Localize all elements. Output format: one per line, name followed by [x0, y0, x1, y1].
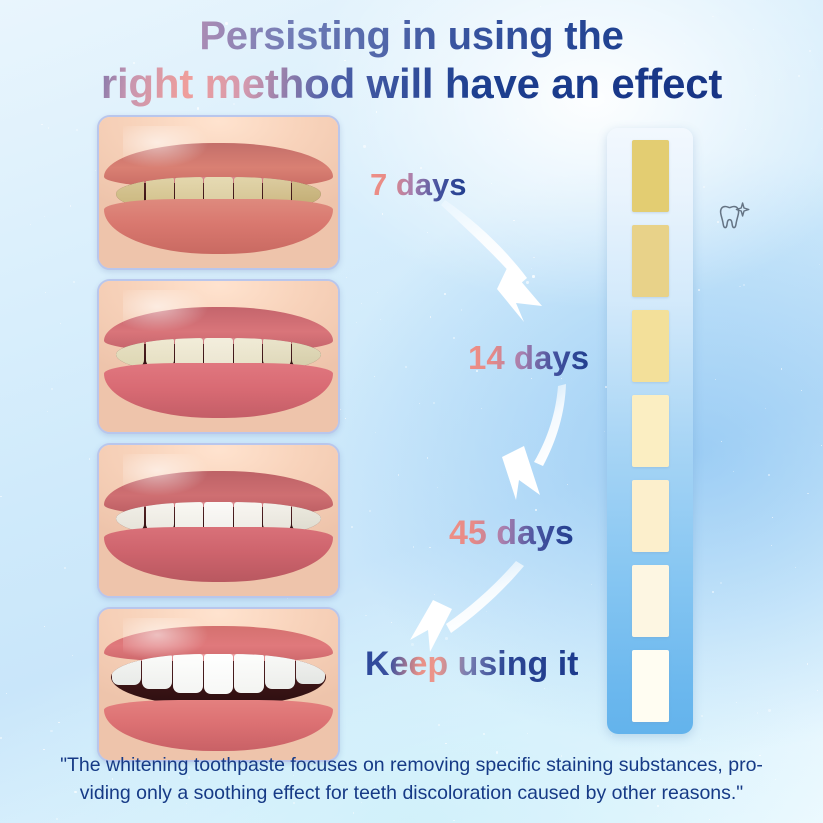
- mouth-illustration: [99, 445, 338, 596]
- mouth-cavity: [111, 654, 326, 705]
- shade-swatch-2: [632, 225, 669, 297]
- tooth: [234, 654, 264, 693]
- infographic-stage: Persisting in using the right method wil…: [0, 0, 823, 823]
- photo-week-two-teeth: [97, 279, 340, 434]
- teeth-row: [111, 654, 326, 705]
- tooth: [173, 654, 203, 693]
- arrow-45-to-keep: [410, 561, 524, 652]
- tooth: [142, 654, 172, 689]
- shade-swatch-4: [632, 395, 669, 467]
- tooth: [292, 502, 320, 530]
- tooth: [265, 654, 295, 689]
- shade-swatch-1: [632, 140, 669, 212]
- photo-final-bright-teeth: [97, 607, 340, 762]
- stage-label-14-days: 14 days: [468, 339, 589, 377]
- tooth: [296, 654, 326, 684]
- mouth-illustration: [99, 281, 338, 432]
- title-line-1: Persisting in using the: [0, 14, 823, 60]
- arrow-7-to-14: [441, 200, 542, 322]
- tooth-shade-guide: [607, 128, 693, 734]
- shade-swatch-5: [632, 480, 669, 552]
- stage-label-45-days: 45 days: [449, 514, 574, 553]
- tooth-sparkle-icon: [717, 200, 751, 232]
- shade-swatch-6: [632, 565, 669, 637]
- page-title: Persisting in using the right method wil…: [0, 14, 823, 107]
- caption-line-2: viding only a soothing effect for teeth …: [24, 780, 799, 808]
- progress-photo-column: [97, 115, 340, 762]
- mouth-illustration: [99, 609, 338, 760]
- tooth: [292, 338, 320, 366]
- tooth: [116, 502, 144, 530]
- stage-label-keep-using-it: Keep using it: [365, 645, 578, 684]
- tooth: [112, 654, 142, 685]
- mouth-illustration: [99, 117, 338, 268]
- tooth: [204, 654, 234, 694]
- caption-block: "The whitening toothpaste focuses on rem…: [0, 752, 823, 807]
- arrow-14-to-45: [502, 384, 566, 500]
- caption-line-1: "The whitening toothpaste focuses on rem…: [24, 752, 799, 780]
- tooth: [116, 338, 144, 366]
- shade-swatch-7: [632, 650, 669, 722]
- photo-before-yellow-teeth: [97, 115, 340, 270]
- photo-week-six-teeth: [97, 443, 340, 598]
- stage-label-7-days: 7 days: [370, 167, 467, 203]
- title-line-2: right method will have an effect: [0, 60, 823, 108]
- shade-swatch-3: [632, 310, 669, 382]
